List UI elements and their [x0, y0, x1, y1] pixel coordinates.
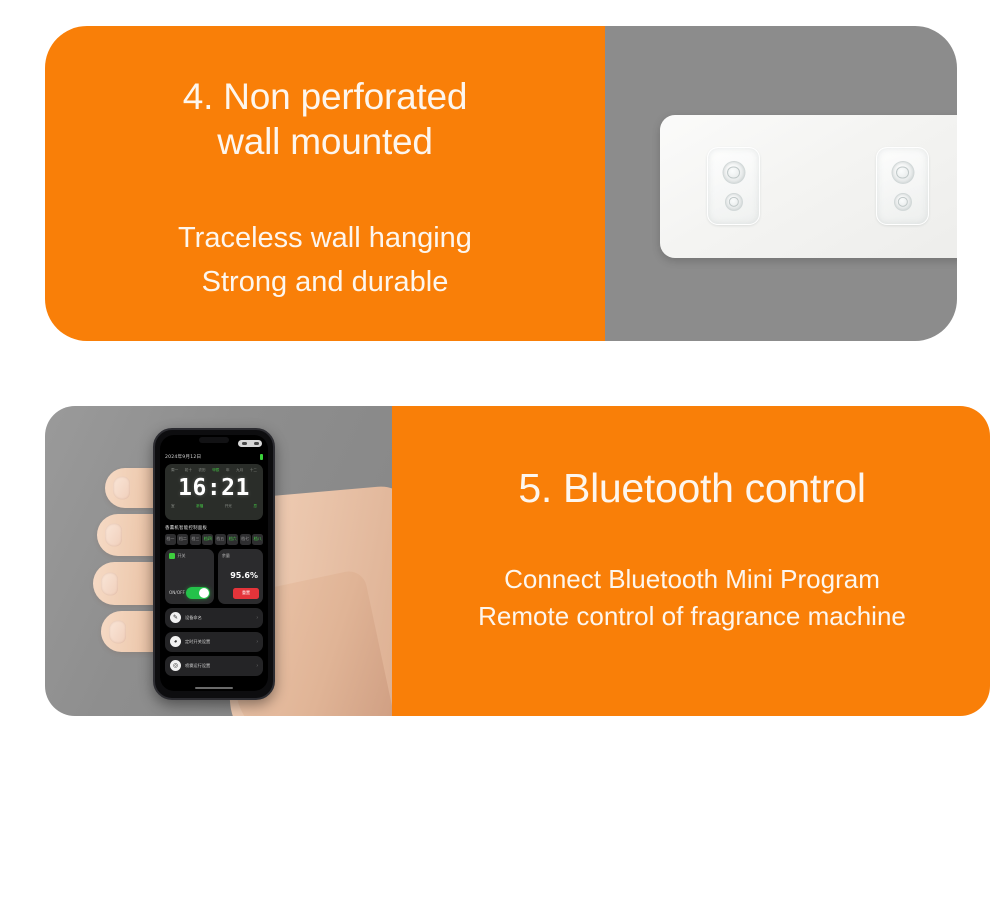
- list-item-label: 定时开关设置: [185, 639, 252, 645]
- fingernail: [113, 477, 130, 500]
- power-toggle-switch[interactable]: [186, 587, 210, 599]
- card-2-heading: 5. Bluetooth control: [400, 464, 984, 512]
- list-item-label: 设备命名: [185, 615, 252, 621]
- lunar-top-6: 十二: [250, 468, 257, 473]
- mode-chip-7[interactable]: 档七: [240, 534, 251, 545]
- status-date: 2024年9月12日: [165, 454, 201, 460]
- card-1-heading-line-2: wall mounted: [75, 119, 575, 164]
- lunar-bottom-2: 开光: [225, 504, 232, 509]
- phone-notch: [199, 437, 229, 443]
- feature-card-bluetooth-control: 2024年9月12日 周一 初十 农历 甲辰 年 九月 十二: [45, 406, 990, 716]
- clock-icon: ◕: [170, 636, 181, 647]
- screw-ring-small-icon: [894, 193, 912, 211]
- onoff-label: ON/OFF: [169, 590, 185, 595]
- onoff-row: ON/OFF: [169, 587, 210, 599]
- lunar-bottom-3: 忌: [253, 504, 257, 509]
- card-1-sub-line-2: Strong and durable: [73, 260, 577, 304]
- screw-ring-large-icon: [891, 161, 914, 184]
- mounting-pad-left: [707, 147, 760, 225]
- card-1-subtext: Traceless wall hanging Strong and durabl…: [45, 216, 605, 304]
- card-1-heading: 4. Non perforated wall mounted: [45, 74, 605, 164]
- card-2-sub-line-1: Connect Bluetooth Mini Program: [398, 561, 986, 598]
- lunar-row-bottom: 宜 祈福 开光 忌: [169, 504, 259, 509]
- chevron-right-icon: ›: [256, 639, 258, 645]
- fingernail: [101, 572, 118, 595]
- list-item-label: 喷雾运行设置: [185, 663, 252, 669]
- level-panel-label: 余量: [222, 553, 230, 559]
- date-row: 2024年9月12日: [165, 452, 263, 461]
- reset-button[interactable]: 重置: [233, 588, 259, 599]
- adhesive-wall-strip: [660, 115, 957, 258]
- level-percentage: 95.6%: [218, 571, 258, 580]
- mode-chip-1[interactable]: 档一: [165, 534, 176, 545]
- home-indicator: [195, 687, 233, 689]
- feature-card-non-perforated: 4. Non perforated wall mounted Traceless…: [45, 26, 957, 341]
- clock-time: 16:21: [169, 473, 259, 504]
- mode-chip-4[interactable]: 档四: [202, 534, 213, 545]
- list-item-timer-setting[interactable]: ◕ 定时开关设置 ›: [165, 632, 263, 652]
- list-item-device-name[interactable]: ✎ 设备命名 ›: [165, 608, 263, 628]
- clock-card: 周一 初十 农历 甲辰 年 九月 十二 16:21 宜 祈福 开光: [165, 464, 263, 520]
- card-2-subtext: Connect Bluetooth Mini Program Remote co…: [398, 561, 986, 635]
- fingernail: [109, 620, 126, 643]
- smartphone: 2024年9月12日 周一 初十 农历 甲辰 年 九月 十二: [153, 428, 275, 700]
- card-1-heading-line-1: 4. Non perforated: [183, 76, 468, 117]
- mode-chip-8[interactable]: 档八: [252, 534, 263, 545]
- battery-icon: [260, 454, 263, 460]
- level-panel: 余量 95.6% 重置: [218, 549, 263, 604]
- mode-chip-6[interactable]: 档六: [227, 534, 238, 545]
- lunar-top-0: 周一: [171, 468, 178, 473]
- phone-screen: 2024年9月12日 周一 初十 农历 甲辰 年 九月 十二: [160, 435, 268, 691]
- pen-icon: ✎: [170, 612, 181, 623]
- power-panel: 开关 ON/OFF: [165, 549, 214, 604]
- level-panel-head: 余量: [222, 553, 259, 559]
- power-status-icon: [169, 553, 175, 559]
- mode-chip-row: 档一 档二 档三 档四 档五 档六 档七 档八: [165, 534, 263, 545]
- screw-ring-large-icon: [722, 161, 745, 184]
- toggle-knob: [199, 588, 209, 598]
- card-2-image-pane: 2024年9月12日 周一 初十 农历 甲辰 年 九月 十二: [45, 406, 392, 716]
- card-1-sub-line-1: Traceless wall hanging: [73, 216, 577, 260]
- card-1-image-pane: [605, 26, 957, 341]
- fingernail: [105, 524, 122, 547]
- card-2-sub-line-2: Remote control of fragrance machine: [398, 598, 986, 635]
- chevron-right-icon: ›: [256, 663, 258, 669]
- card-1-text-pane: 4. Non perforated wall mounted Traceless…: [45, 26, 605, 341]
- fan-icon: ◎: [170, 660, 181, 671]
- lunar-bottom-0: 宜: [171, 504, 175, 509]
- list-item-spray-setting[interactable]: ◎ 喷雾运行设置 ›: [165, 656, 263, 676]
- power-panel-head: 开关: [169, 553, 210, 559]
- chevron-right-icon: ›: [256, 615, 258, 621]
- card-2-text-pane: 5. Bluetooth control Connect Bluetooth M…: [392, 406, 990, 716]
- control-panel-row: 开关 ON/OFF 余量 95.6% 重置: [165, 549, 263, 604]
- power-panel-label: 开关: [178, 553, 186, 559]
- product-feature-page: 4. Non perforated wall mounted Traceless…: [0, 0, 1000, 915]
- mounting-pad-right: [876, 147, 929, 225]
- panel-section-title: 香薰机智能控制面板: [165, 525, 263, 531]
- mode-chip-2[interactable]: 档二: [177, 534, 188, 545]
- mode-chip-5[interactable]: 档五: [215, 534, 226, 545]
- screw-ring-small-icon: [725, 193, 743, 211]
- mode-chip-3[interactable]: 档三: [190, 534, 201, 545]
- dynamic-island-pill-icon: [238, 440, 262, 447]
- lunar-bottom-1: 祈福: [196, 504, 203, 509]
